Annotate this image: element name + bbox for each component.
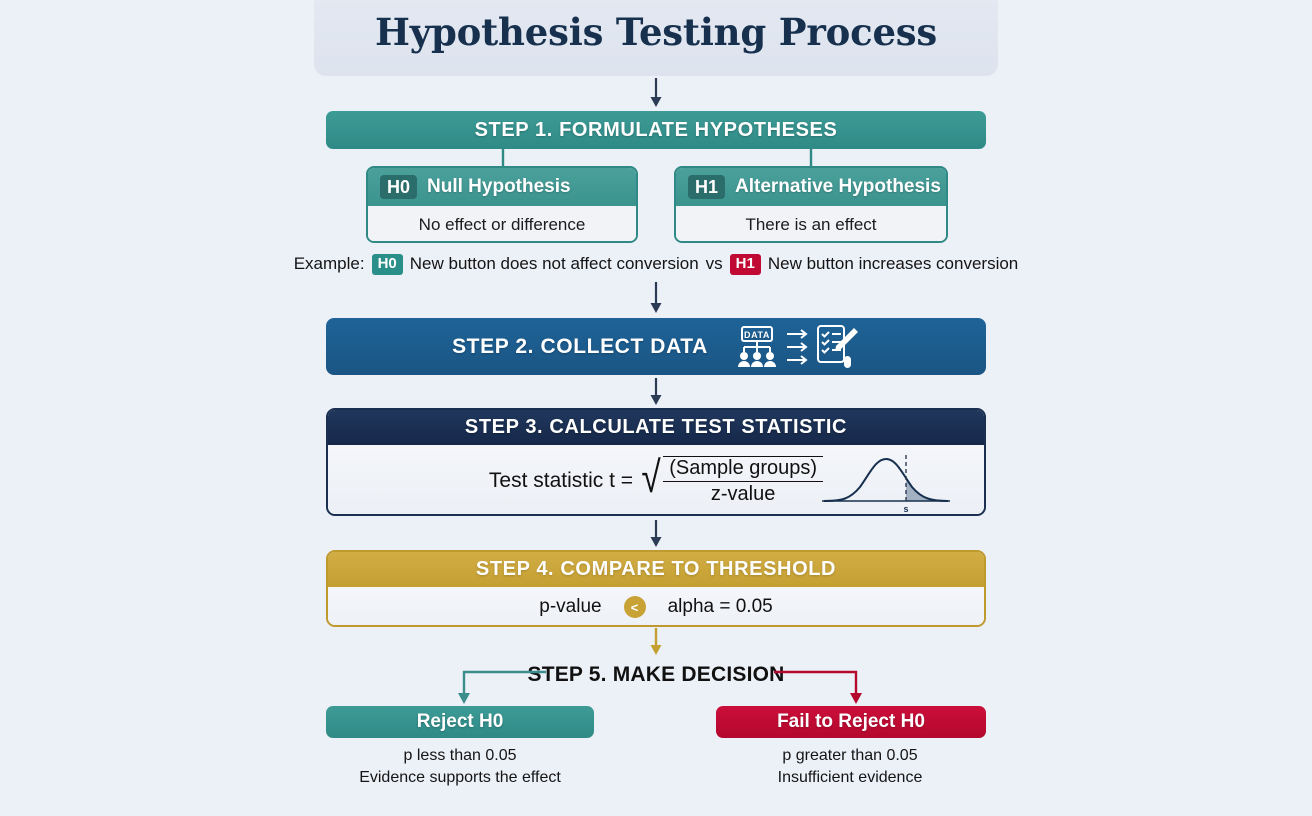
example-h1-text: New button increases conversion <box>768 254 1018 274</box>
arrow-step3-to-step4 <box>640 520 672 548</box>
alternative-hypothesis-card: H1 Alternative Hypothesis There is an ef… <box>674 166 948 243</box>
fail-to-reject-h0-label: Fail to Reject H0 <box>777 711 925 733</box>
step4-label: STEP 4. COMPARE TO THRESHOLD <box>328 552 984 587</box>
data-source-icon: DATA <box>734 325 780 369</box>
step1-label: STEP 1. FORMULATE HYPOTHESES <box>475 119 838 142</box>
step3-body: Test statistic t = √ (Sample groups) z-v… <box>328 445 984 516</box>
null-hypothesis-card: H0 Null Hypothesis No effect or differen… <box>366 166 638 243</box>
diagram-canvas: Hypothesis Testing Process STEP 1. FORMU… <box>0 0 1312 816</box>
step3-panel: STEP 3. CALCULATE TEST STATISTIC Test st… <box>326 408 986 516</box>
reject-h0-label: Reject H0 <box>417 711 504 733</box>
alpha-term: alpha = 0.05 <box>668 596 773 618</box>
formula-lead: Test statistic t = <box>489 469 633 493</box>
collect-data-icon-group: DATA <box>734 324 860 370</box>
reject-h0-note-1: p less than 0.05 <box>310 745 610 767</box>
null-hypothesis-head: H0 Null Hypothesis <box>368 168 636 206</box>
curve-axis-label: s <box>903 504 908 513</box>
step5-label: STEP 5. MAKE DECISION <box>0 663 1312 687</box>
alternative-hypothesis-body: There is an effect <box>676 206 946 243</box>
fraction-denominator: z-value <box>711 482 775 506</box>
example-h0-badge: H0 <box>372 254 403 275</box>
example-row: Example: H0 New button does not affect c… <box>0 254 1312 275</box>
arrows-icon <box>785 326 811 368</box>
example-connector: vs <box>706 254 723 274</box>
null-hypothesis-body: No effect or difference <box>368 206 636 243</box>
example-h0-text: New button does not affect conversion <box>410 254 699 274</box>
data-icon-label: DATA <box>744 330 770 340</box>
arrow-step5-left <box>450 667 550 707</box>
step3-label: STEP 3. CALCULATE TEST STATISTIC <box>328 410 984 445</box>
arrow-step2-to-step3 <box>640 378 672 406</box>
normal-distribution-curve-icon: s <box>820 451 952 513</box>
fail-to-reject-h0-note-2: Insufficient evidence <box>700 767 1000 789</box>
reject-h0-notes: p less than 0.05 Evidence supports the e… <box>310 745 610 788</box>
distribution-curve: s <box>820 451 952 516</box>
checklist-pencil-icon <box>816 324 860 370</box>
example-h1-badge: H1 <box>730 254 761 275</box>
title-banner: Hypothesis Testing Process <box>314 0 998 76</box>
arrow-step4-to-step5 <box>640 628 672 656</box>
sqrt-symbol: √ <box>641 460 660 510</box>
fraction: (Sample groups) z-value <box>663 456 823 506</box>
reject-h0-note-2: Evidence supports the effect <box>310 767 610 789</box>
step4-body: p-value < alpha = 0.05 <box>328 587 984 627</box>
h0-badge: H0 <box>380 175 417 199</box>
alternative-hypothesis-head: H1 Alternative Hypothesis <box>676 168 946 206</box>
comparator-badge: < <box>624 596 646 618</box>
reject-h0-bar: Reject H0 <box>326 706 594 738</box>
step2-header: STEP 2. COLLECT DATA DATA <box>326 318 986 375</box>
test-statistic-formula: Test statistic t = √ (Sample groups) z-v… <box>489 456 823 506</box>
fraction-numerator: (Sample groups) <box>663 456 823 482</box>
p-value-term: p-value <box>539 596 601 618</box>
alternative-hypothesis-title: Alternative Hypothesis <box>735 176 941 198</box>
example-prefix: Example: <box>294 254 365 274</box>
step4-panel: STEP 4. COMPARE TO THRESHOLD p-value < a… <box>326 550 986 627</box>
arrow-title-to-step1 <box>640 78 672 108</box>
step1-header: STEP 1. FORMULATE HYPOTHESES <box>326 111 986 149</box>
step2-label: STEP 2. COLLECT DATA <box>452 335 708 359</box>
fail-to-reject-h0-note-1: p greater than 0.05 <box>700 745 1000 767</box>
arrow-step1-to-step2 <box>640 282 672 314</box>
page-title: Hypothesis Testing Process <box>375 10 937 54</box>
sqrt-group: √ (Sample groups) z-value <box>639 456 823 506</box>
h1-badge: H1 <box>688 175 725 199</box>
fail-to-reject-h0-notes: p greater than 0.05 Insufficient evidenc… <box>700 745 1000 788</box>
arrow-step5-right <box>770 667 880 707</box>
fail-to-reject-h0-bar: Fail to Reject H0 <box>716 706 986 738</box>
null-hypothesis-title: Null Hypothesis <box>427 176 571 198</box>
